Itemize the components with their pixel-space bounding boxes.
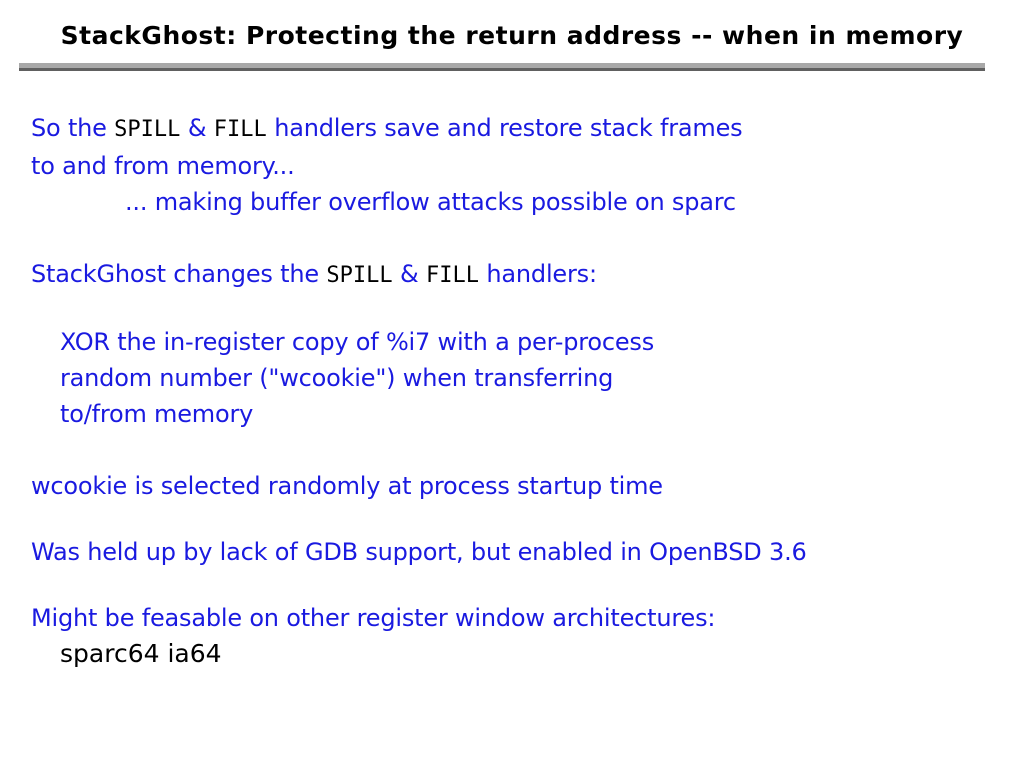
paragraph-stackghost-changes: StackGhost changes the SPILL & FILL hand… [0,256,1024,294]
text-line: Might be feasable on other register wind… [0,600,1024,636]
text-line-indented: to/from memory [0,396,1024,432]
text-line-indented: random number ("wcookie") when transferr… [0,360,1024,396]
text-run-plain: handlers: [479,260,597,288]
spacer [0,570,1024,600]
title-divider [19,63,985,71]
text-line: Was held up by lack of GDB support, but … [0,534,1024,570]
text-line-indented: XOR the in-register copy of %i7 with a p… [0,324,1024,360]
text-run-plain: handlers save and restore stack frames [267,114,743,142]
text-run-ampersand: & [180,114,213,142]
keyword-fill: FILL [214,117,267,142]
paragraph-gdb-openbsd: Was held up by lack of GDB support, but … [0,534,1024,570]
text-run-plain: So the [31,114,114,142]
text-line-indented: ... making buffer overflow attacks possi… [0,184,1024,220]
text-line: StackGhost changes the SPILL & FILL hand… [0,256,1024,294]
spacer [0,504,1024,534]
spacer [0,294,1024,324]
page-title: StackGhost: Protecting the return addres… [61,22,964,50]
spacer [0,220,1024,256]
text-line: So the SPILL & FILL handlers save and re… [0,110,1024,148]
paragraph-other-architectures: Might be feasable on other register wind… [0,600,1024,672]
paragraph-wcookie-random: wcookie is selected randomly at process … [0,468,1024,504]
spacer [0,432,1024,468]
paragraph-spill-fill-intro: So the SPILL & FILL handlers save and re… [0,110,1024,220]
text-line-architectures: sparc64 ia64 [0,636,1024,672]
keyword-fill: FILL [426,263,479,288]
paragraph-xor-detail: XOR the in-register copy of %i7 with a p… [0,324,1024,432]
slide-title-block: StackGhost: Protecting the return addres… [0,22,1024,50]
text-line: wcookie is selected randomly at process … [0,468,1024,504]
slide-canvas: StackGhost: Protecting the return addres… [0,0,1024,768]
text-run-plain: StackGhost changes the [31,260,326,288]
text-line: to and from memory... [0,148,1024,184]
slide-body: So the SPILL & FILL handlers save and re… [0,110,1024,672]
text-run-ampersand: & [393,260,426,288]
keyword-spill: SPILL [114,117,180,142]
keyword-spill: SPILL [326,263,392,288]
